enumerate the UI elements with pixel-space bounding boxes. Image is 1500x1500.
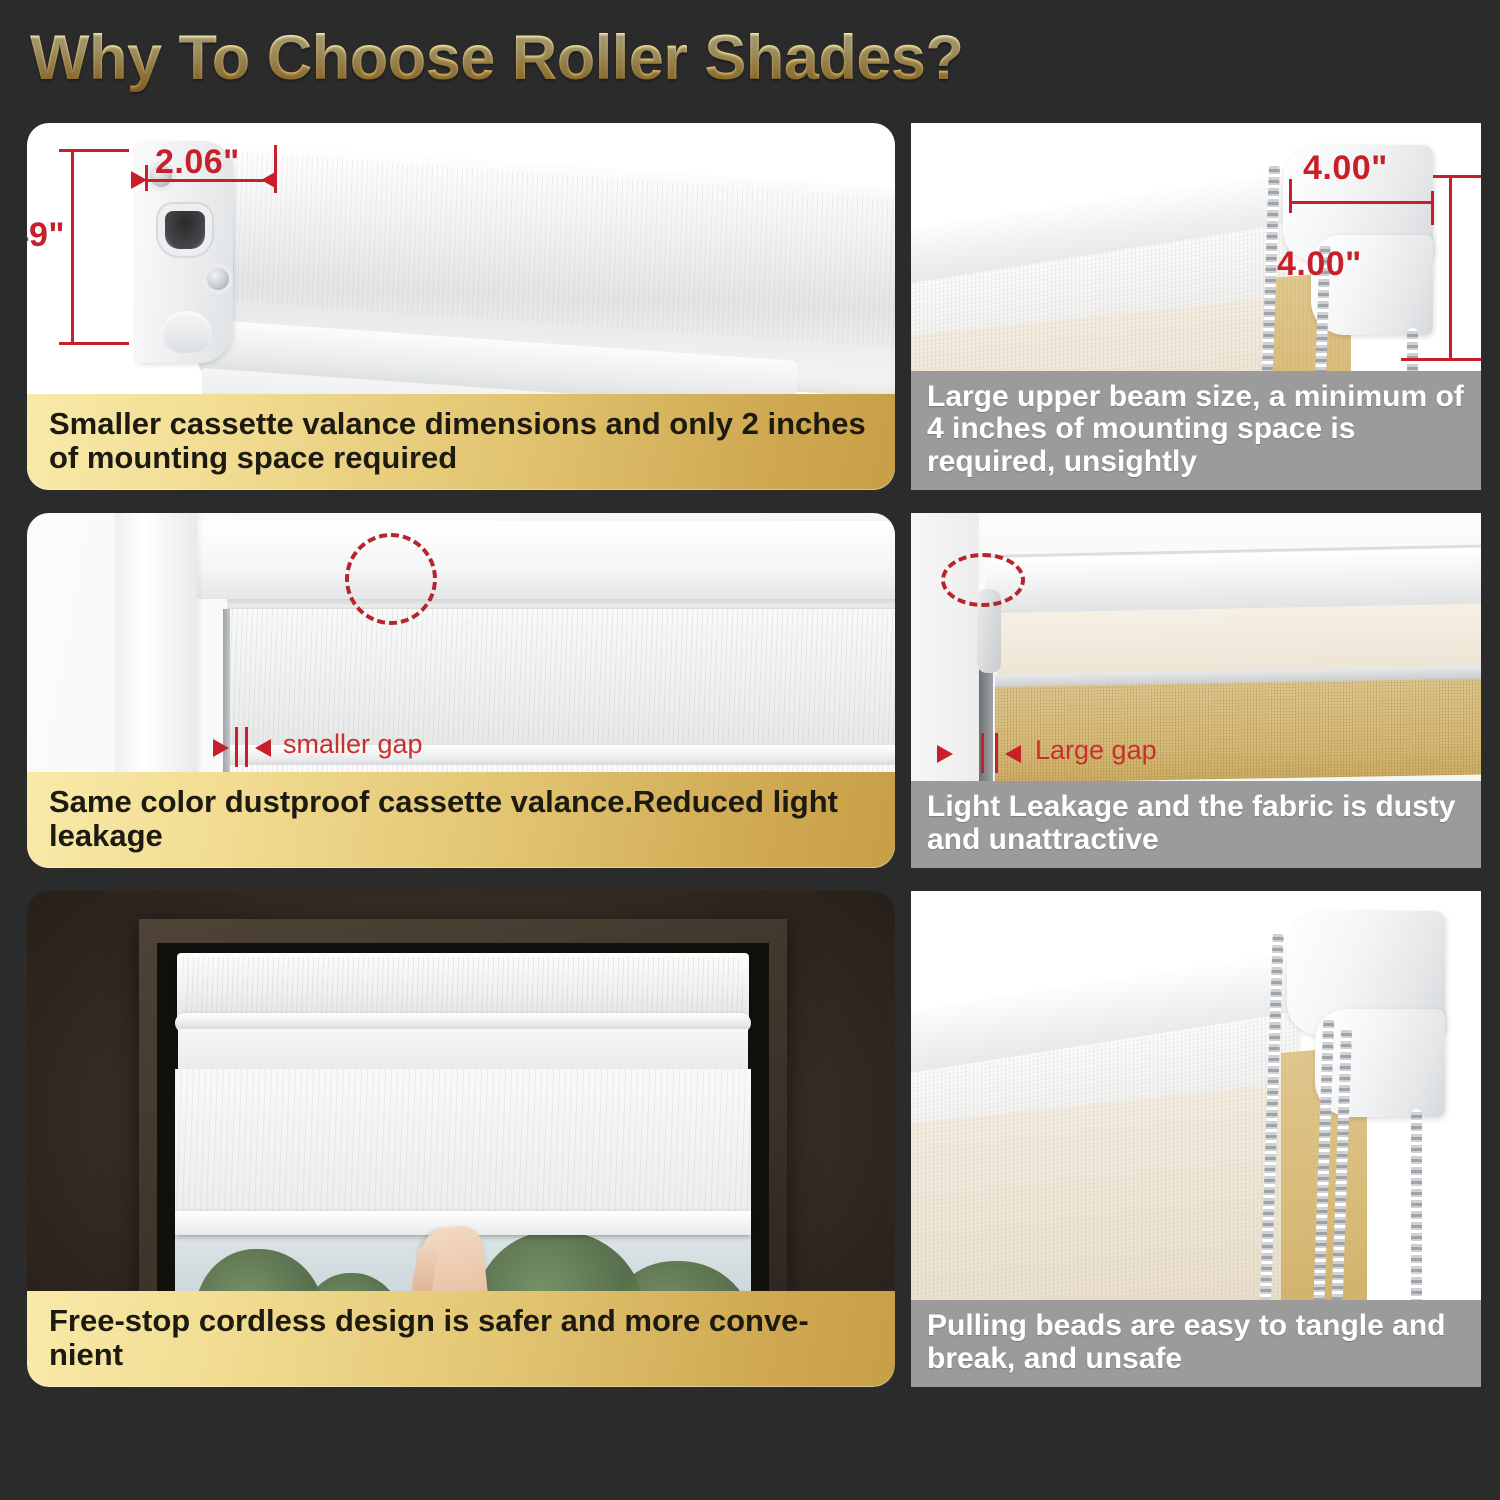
endcap-wheel	[163, 311, 211, 353]
gap-arrow-right	[1005, 745, 1021, 763]
page-title: Why To Choose Roller Shades?	[30, 22, 963, 94]
beam-width-dim-line	[1289, 201, 1434, 204]
gap-marker-2	[245, 727, 248, 767]
beam-width-tick-left	[1289, 179, 1292, 213]
width-dimension-label: 2.06"	[155, 143, 240, 182]
beam-width-tick-right	[1431, 191, 1434, 225]
panel-1-caption: Smaller cassette valance dimensions and …	[27, 394, 895, 490]
beam-height-label: 4.00"	[1277, 245, 1362, 284]
beam-height-tick-top	[1433, 175, 1481, 178]
endcap-slot	[165, 211, 205, 249]
large-gap-label: Large gap	[1035, 735, 1157, 766]
highlight-circle-gap	[941, 553, 1025, 607]
panel-6-pulling-beads: Pulling beads are easy to tangle and bre…	[911, 891, 1481, 1387]
fabric-tan-dusty	[995, 679, 1481, 783]
screw-bottom-icon	[207, 268, 229, 290]
gap-arrow-left	[213, 739, 229, 757]
beam-height-dim-line	[1449, 175, 1452, 361]
cassette-valance-head	[177, 953, 749, 1019]
height-dimension-label: 5.49"	[27, 216, 65, 255]
highlight-circle-seam	[345, 533, 437, 625]
gap-arrow-left	[937, 745, 953, 763]
shade-fabric-body	[175, 1069, 751, 1215]
panel-6-caption: Pulling beads are easy to tangle and bre…	[911, 1300, 1481, 1387]
beam-height-tick-bottom	[1401, 358, 1481, 361]
panel-2-large-upper-beam: 4.00" 4.00" Large upper beam size, a min…	[911, 123, 1481, 490]
height-dim-tick-top	[59, 149, 129, 152]
panel-4-caption: Light Leakage and the fabric is dusty an…	[911, 781, 1481, 868]
gap-marker-1	[981, 733, 984, 773]
header-bar: Why To Choose Roller Shades?	[0, 0, 1500, 118]
panel-1-cassette-valance: 2.06" 5.49" Smaller cassette valance dim…	[27, 123, 895, 490]
gap-marker-2	[995, 733, 998, 773]
panel-5-caption: Free-stop cordless design is safer and m…	[27, 1291, 895, 1387]
panel-5-cordless-design: Free-stop cordless design is safer and m…	[27, 891, 895, 1387]
mounting-bracket-lower	[1315, 1009, 1445, 1117]
panel-4-light-leakage: Large gap Light Leakage and the fabric i…	[911, 513, 1481, 868]
panel-3-dustproof-cassette: smaller gap Same color dustproof cassett…	[27, 513, 895, 868]
window-casing-top	[197, 521, 895, 599]
gap-arrow-right	[255, 739, 271, 757]
height-dim-tick-bottom	[59, 342, 129, 345]
smaller-gap-label: smaller gap	[283, 729, 423, 760]
shade-upper-section	[178, 1029, 748, 1071]
width-dim-arrow-right	[261, 171, 277, 189]
height-dim-line	[71, 149, 74, 345]
width-dim-arrow-left	[131, 171, 147, 189]
gap-marker-1	[235, 727, 238, 767]
shade-fabric-upper	[227, 609, 895, 747]
panel-2-caption: Large upper beam size, a minimum of 4 in…	[911, 371, 1481, 490]
beam-width-label: 4.00"	[1303, 149, 1388, 188]
panel-3-caption: Same color dustproof cassette valance.Re…	[27, 772, 895, 868]
